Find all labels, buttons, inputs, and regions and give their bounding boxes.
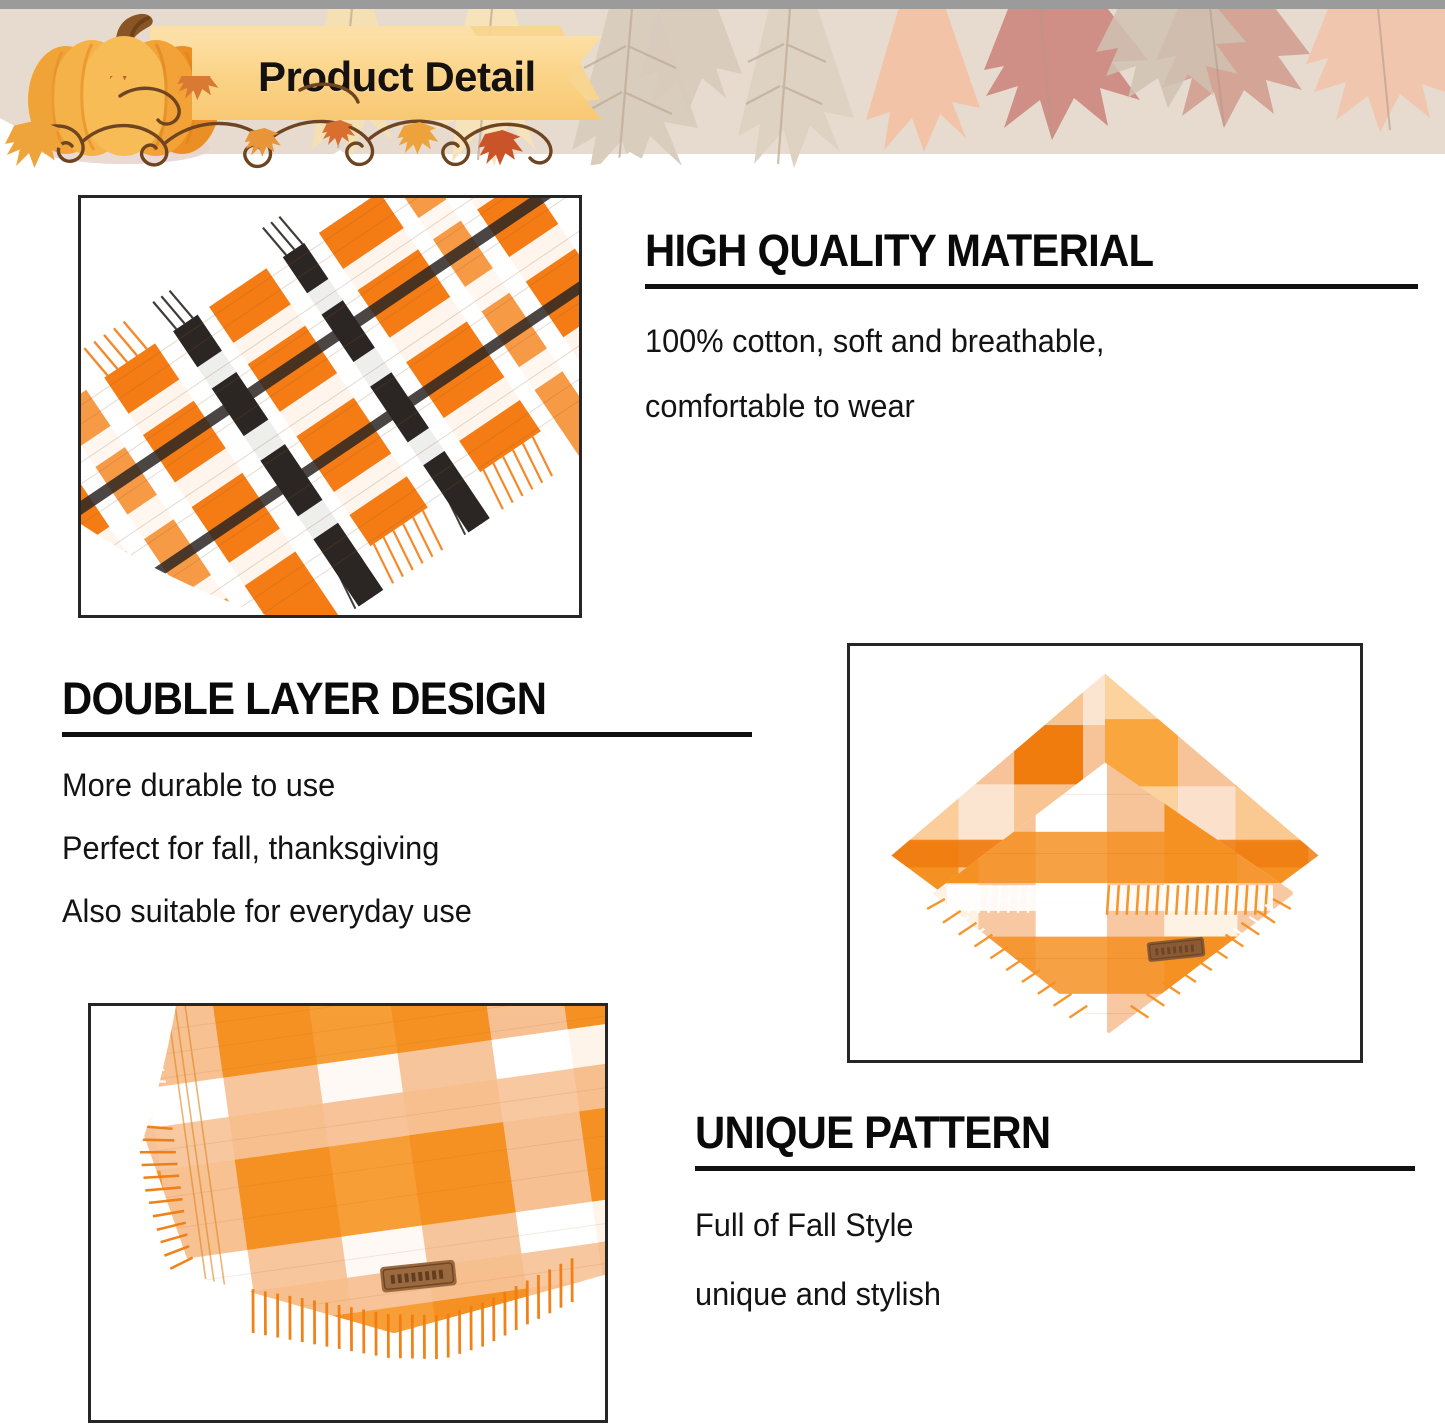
photo-image: [91, 1006, 605, 1421]
heading-rule: [695, 1166, 1415, 1171]
section-body: Full of Fall Style unique and stylish: [695, 1207, 1415, 1313]
body-line: Also suitable for everyday use: [62, 893, 724, 930]
section-body: More durable to use Perfect for fall, th…: [62, 767, 752, 930]
body-line: unique and stylish: [695, 1276, 1386, 1313]
section-heading: HIGH QUALITY MATERIAL: [645, 228, 1364, 274]
photo-image: [81, 198, 579, 616]
page-header: Product Detail: [0, 0, 1445, 190]
body-line: comfortable to wear: [645, 388, 1387, 425]
section-heading: DOUBLE LAYER DESIGN: [62, 676, 704, 722]
section-unique-pattern: UNIQUE PATTERN Full of Fall Style unique…: [695, 1110, 1415, 1313]
body-line: 100% cotton, soft and breathable,: [645, 323, 1387, 360]
photo-fringe-closeup: [78, 195, 582, 618]
body-line: Full of Fall Style: [695, 1207, 1386, 1244]
section-heading: UNIQUE PATTERN: [695, 1110, 1365, 1156]
section-body: 100% cotton, soft and breathable, comfor…: [645, 323, 1418, 425]
heading-rule: [645, 284, 1418, 289]
photo-image: [850, 646, 1360, 1061]
section-high-quality-material: HIGH QUALITY MATERIAL 100% cotton, soft …: [645, 228, 1418, 425]
photo-flat-plaid-corner: [88, 1003, 608, 1423]
photo-folded-bandana: [847, 643, 1363, 1063]
heading-rule: [62, 732, 752, 737]
section-double-layer-design: DOUBLE LAYER DESIGN More durable to use …: [62, 676, 752, 930]
autumn-vine-swirl-icon: [0, 76, 620, 188]
body-line: Perfect for fall, thanksgiving: [62, 830, 724, 867]
body-line: More durable to use: [62, 767, 724, 804]
